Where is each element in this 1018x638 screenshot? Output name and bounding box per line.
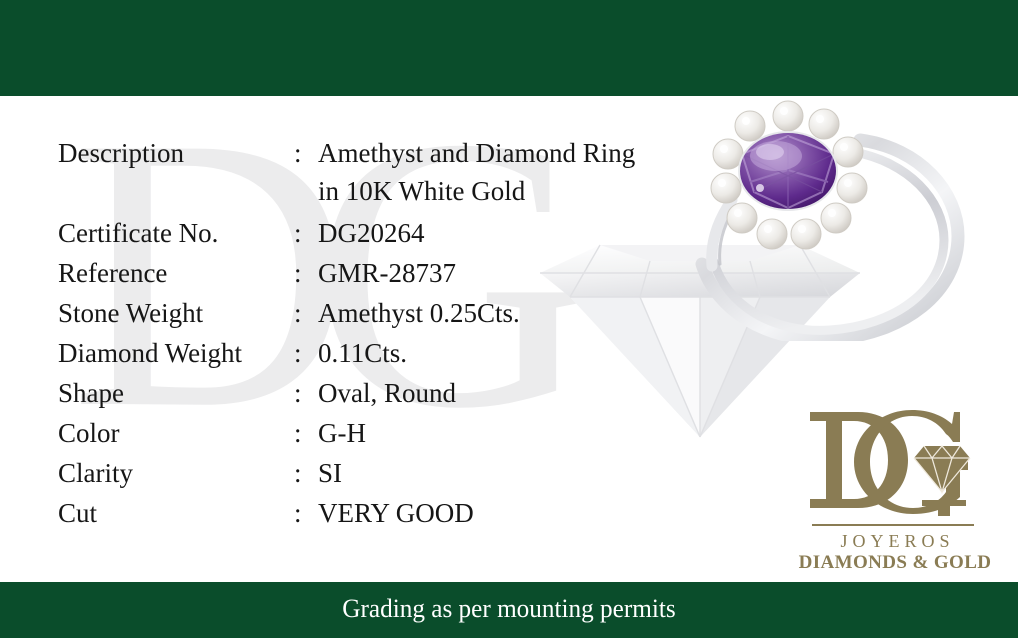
field-label: Color <box>58 416 298 450</box>
field-label: Certificate No. <box>58 216 298 250</box>
logo-tagline: DIAMONDS & GOLD <box>796 552 994 574</box>
field-value: VERY GOOD <box>318 496 474 530</box>
field-value: Amethyst 0.25Cts. <box>318 296 520 330</box>
field-row-reference: Reference : GMR-28737 <box>0 256 1018 296</box>
field-label: Diamond Weight <box>58 336 298 370</box>
header-banner <box>0 0 1018 96</box>
field-value: SI <box>318 456 342 490</box>
field-separator: : <box>294 296 302 330</box>
field-value: G-H <box>318 416 366 450</box>
footer-note: Grading as per mounting permits <box>15 594 1002 624</box>
certificate-page: DG <box>0 0 1018 638</box>
field-row-certificate-no: Certificate No. : DG20264 <box>0 216 1018 256</box>
field-row-diamond-weight: Diamond Weight : 0.11Cts. <box>0 336 1018 376</box>
field-label: Stone Weight <box>58 296 298 330</box>
field-separator: : <box>294 216 302 250</box>
field-value: GMR-28737 <box>318 256 456 290</box>
company-logo: JOYEROS DIAMONDS & GOLD <box>796 404 994 572</box>
field-row-description: Description : Amethyst and Diamond Ring … <box>0 136 1018 176</box>
field-separator: : <box>294 416 302 450</box>
field-separator: : <box>294 456 302 490</box>
field-separator: : <box>294 136 302 170</box>
field-label: Shape <box>58 376 298 410</box>
footer-banner: Grading as per mounting permits <box>0 582 1018 638</box>
field-value: DG20264 <box>318 216 425 250</box>
logo-company-name: JOYEROS <box>796 530 994 552</box>
field-label: Reference <box>58 256 298 290</box>
field-separator: : <box>294 496 302 530</box>
field-label: Clarity <box>58 456 298 490</box>
field-row-stone-weight: Stone Weight : Amethyst 0.25Cts. <box>0 296 1018 336</box>
field-separator: : <box>294 376 302 410</box>
field-separator: : <box>294 256 302 290</box>
logo-divider <box>812 524 974 526</box>
field-value: Amethyst and Diamond Ring <box>318 136 635 170</box>
field-value: Oval, Round <box>318 376 456 410</box>
field-label: Description <box>58 136 298 170</box>
field-separator: : <box>294 336 302 370</box>
dg-monogram-icon <box>796 404 994 516</box>
field-value: 0.11Cts. <box>318 336 407 370</box>
field-value-line2: in 10K White Gold <box>318 174 525 208</box>
field-label: Cut <box>58 496 298 530</box>
